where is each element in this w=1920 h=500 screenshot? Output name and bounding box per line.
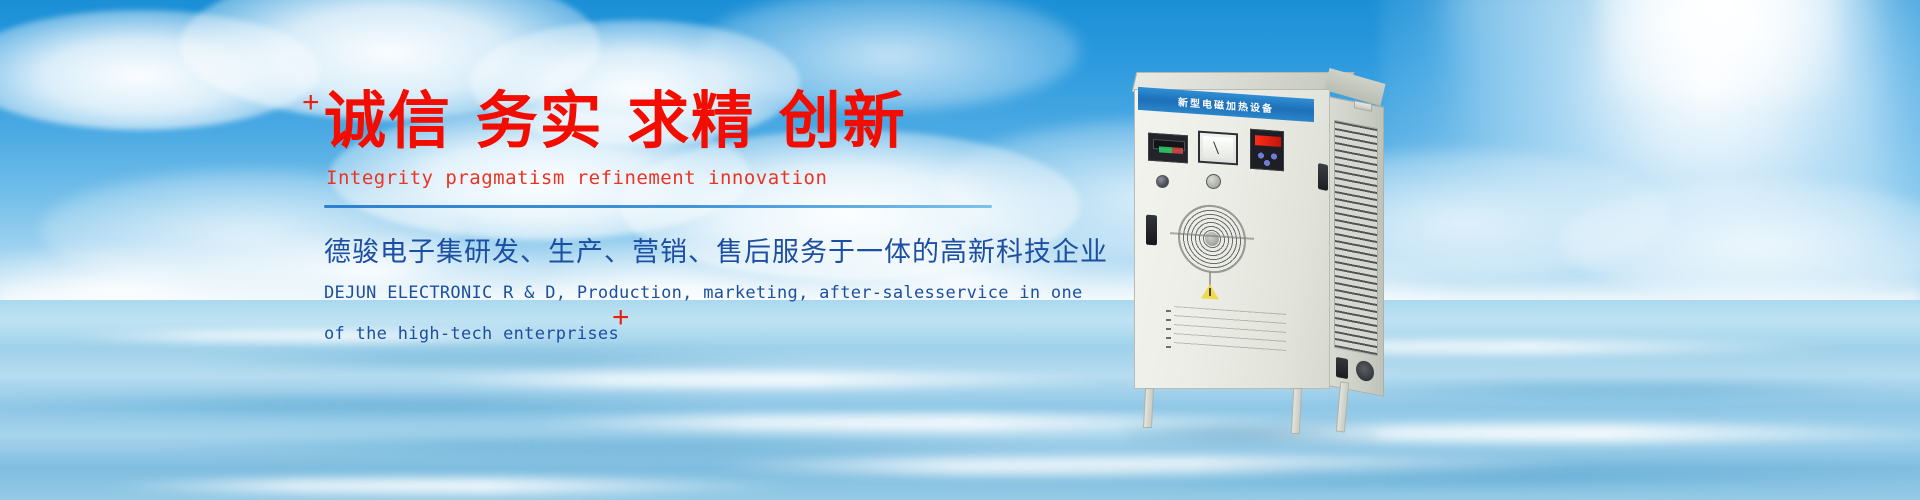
company-tagline-chinese: 德骏电子集研发、生产、营销、售后服务于一体的高新科技企业 — [324, 230, 1020, 269]
company-tagline-english-line1: DEJUN ELECTRONIC R & D, Production, mark… — [324, 277, 1020, 310]
machine-rocker-switch — [1146, 215, 1157, 246]
company-tagline-english-line2: of the high-tech enterprises — [324, 318, 1020, 351]
promo-banner: + + 诚信 务实 求精 创新 Integrity pragmatism ref… — [0, 0, 1920, 500]
machine-leg-left — [1143, 388, 1154, 428]
water-reflection — [980, 466, 1920, 486]
keypad-buttons — [1257, 151, 1279, 167]
divider-rule — [324, 205, 992, 208]
banner-copy-block: 诚信 务实 求精 创新 Integrity pragmatism refinem… — [320, 88, 1020, 351]
headline-subtitle-english: Integrity pragmatism refinement innovati… — [326, 167, 1020, 189]
warning-triangle-icon — [1201, 283, 1219, 299]
water-reflection — [160, 436, 1060, 456]
sun-core — [1600, 0, 1840, 100]
water-reflection — [180, 352, 820, 366]
water-reflection — [100, 478, 800, 494]
machine-door-hinge — [1318, 163, 1328, 191]
machine-digital-controller — [1148, 133, 1188, 164]
machine-nameplate-label: 新型电磁加热设备 — [1178, 94, 1274, 116]
headline-slogan: 诚信 务实 求精 创新 — [324, 88, 1020, 153]
machine-side-vents — [1334, 120, 1378, 357]
controller-digits — [1159, 146, 1183, 154]
machine-keypad-module — [1250, 129, 1284, 171]
ammeter-dial — [1203, 136, 1233, 160]
plus-mark-top-icon: + — [302, 88, 320, 118]
controller-screen — [1153, 139, 1185, 151]
ammeter-needle — [1213, 141, 1219, 154]
machine-side-port — [1336, 357, 1348, 379]
product-image-heating-cabinet: 新型电磁加热设备 — [1122, 72, 1412, 424]
machine-adjust-knob — [1206, 174, 1221, 189]
machine-spec-bullets — [1166, 310, 1171, 356]
machine-selector-knob — [1156, 175, 1169, 188]
water-reflection — [0, 396, 760, 414]
machine-analog-ammeter — [1198, 131, 1238, 166]
machine-spec-text — [1174, 306, 1286, 360]
keypad-display — [1255, 135, 1281, 147]
water-reflection — [420, 372, 1120, 388]
